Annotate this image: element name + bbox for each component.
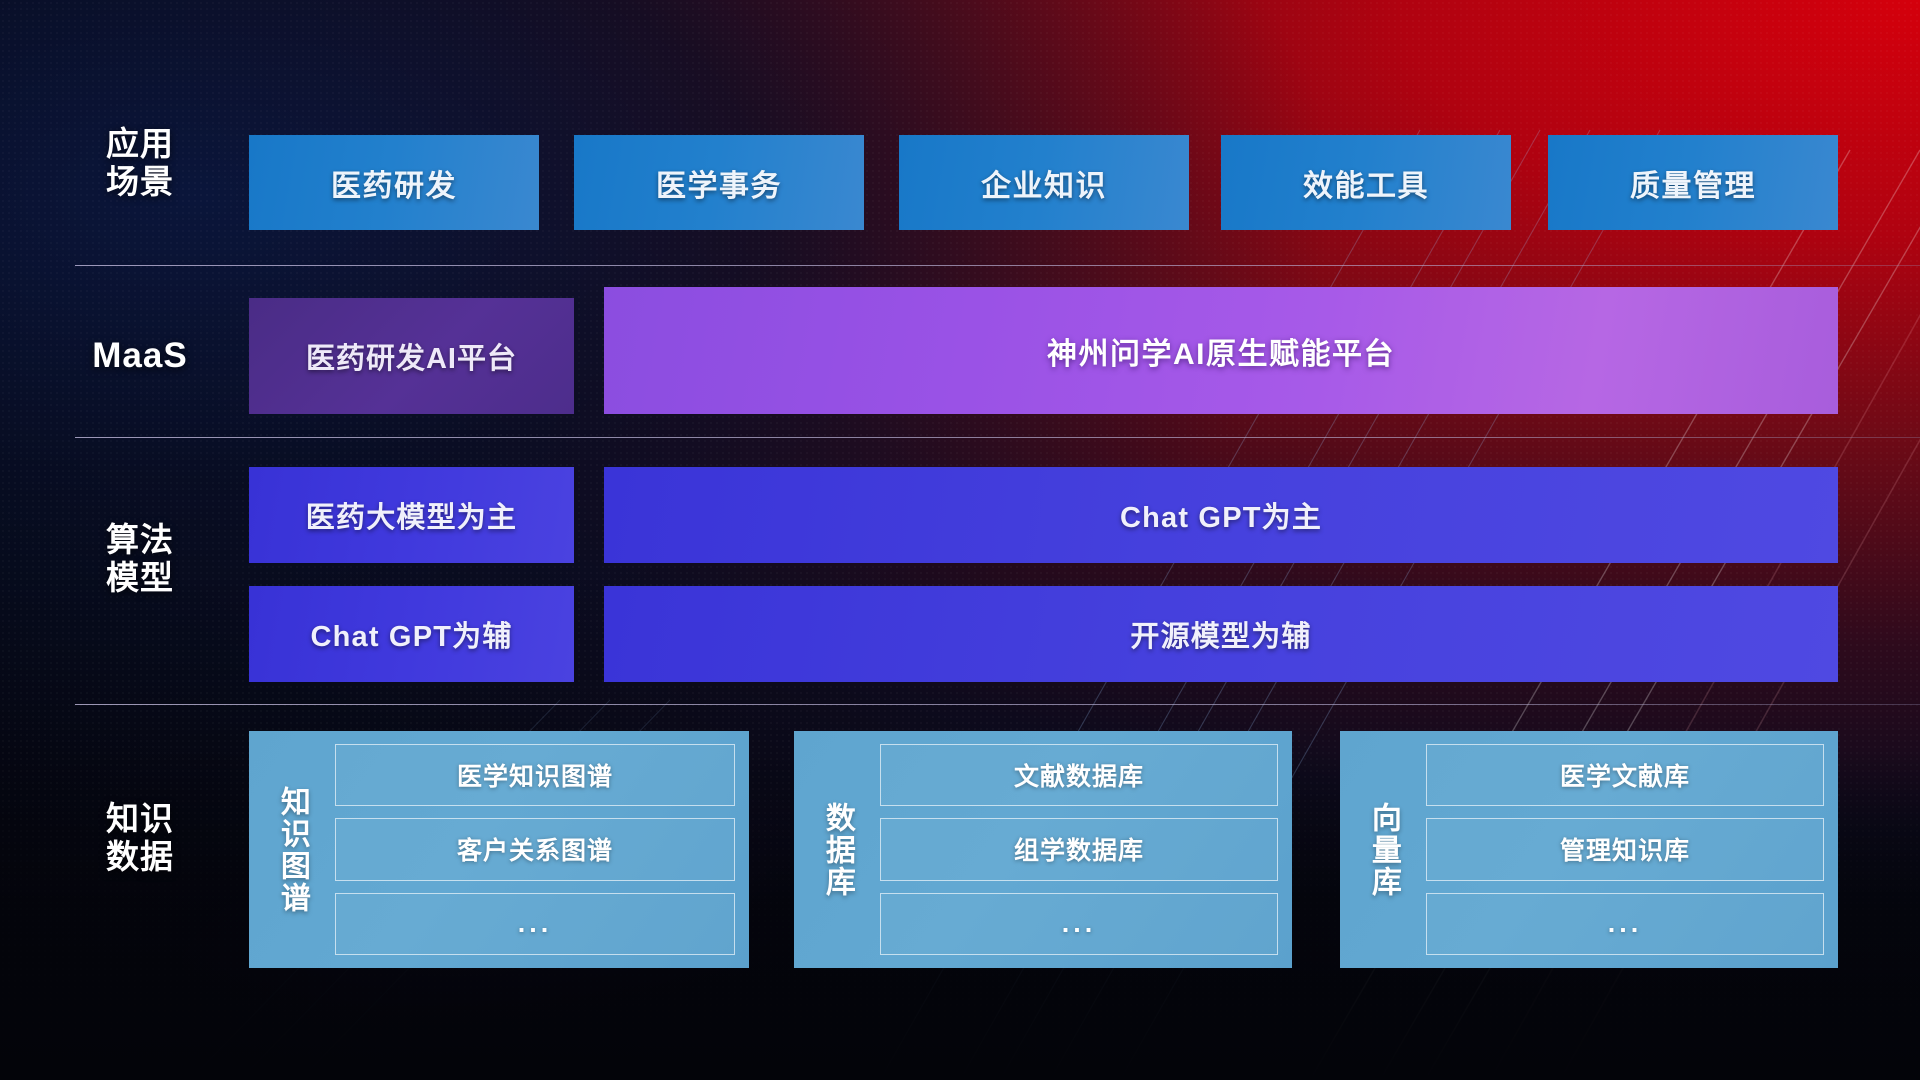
- knowledge-item-vector-more[interactable]: ...: [1426, 893, 1824, 955]
- knowledge-item-graph-more[interactable]: ...: [335, 893, 735, 955]
- knowledge-panel-database[interactable]: 数据库 文献数据库 组学数据库 ...: [794, 731, 1292, 968]
- separator-maas-algorithm: [75, 437, 1920, 438]
- architecture-diagram: 应用 场景 医药研发 医学事务 企业知识 效能工具 质量管理 MaaS 医药研发…: [0, 0, 1920, 1080]
- layer-label-application: 应用 场景: [75, 125, 205, 202]
- maas-box-medicine-ai-platform[interactable]: 医药研发AI平台: [249, 298, 574, 414]
- app-box-enterprise-knowledge[interactable]: 企业知识: [899, 135, 1189, 230]
- app-box-efficiency-tools[interactable]: 效能工具: [1221, 135, 1511, 230]
- knowledge-item-customer-graph[interactable]: 客户关系图谱: [335, 818, 735, 880]
- knowledge-panel-vector-label: 向量库: [1340, 802, 1426, 898]
- knowledge-panel-database-label: 数据库: [794, 802, 880, 898]
- knowledge-panel-graph[interactable]: 知识图谱 医学知识图谱 客户关系图谱 ...: [249, 731, 749, 968]
- layer-label-knowledge: 知识 数据: [75, 800, 205, 877]
- app-box-medical-affairs[interactable]: 医学事务: [574, 135, 864, 230]
- knowledge-item-literature-db[interactable]: 文献数据库: [880, 744, 1278, 806]
- knowledge-item-management-kb[interactable]: 管理知识库: [1426, 818, 1824, 880]
- app-box-medicine-rnd[interactable]: 医药研发: [249, 135, 539, 230]
- algo-box-chatgpt-secondary[interactable]: Chat GPT为辅: [249, 586, 574, 682]
- layer-label-maas: MaaS: [75, 336, 205, 377]
- knowledge-panel-vector-label-text: 向量库: [1367, 802, 1399, 898]
- maas-box-shenzhou-wenxue-platform[interactable]: 神州问学AI原生赋能平台: [604, 287, 1838, 414]
- knowledge-panel-vector-items: 医学文献库 管理知识库 ...: [1426, 744, 1824, 955]
- app-box-quality-management[interactable]: 质量管理: [1548, 135, 1838, 230]
- knowledge-panel-graph-label: 知识图谱: [249, 786, 335, 914]
- separator-algorithm-knowledge: [75, 704, 1920, 705]
- knowledge-item-omics-db[interactable]: 组学数据库: [880, 818, 1278, 880]
- knowledge-panel-graph-label-text: 知识图谱: [276, 786, 308, 914]
- knowledge-item-medical-graph[interactable]: 医学知识图谱: [335, 744, 735, 806]
- knowledge-panel-vector[interactable]: 向量库 医学文献库 管理知识库 ...: [1340, 731, 1838, 968]
- algo-box-opensource-secondary[interactable]: 开源模型为辅: [604, 586, 1838, 682]
- separator-application-maas: [75, 265, 1920, 266]
- knowledge-item-medical-literature[interactable]: 医学文献库: [1426, 744, 1824, 806]
- knowledge-item-database-more[interactable]: ...: [880, 893, 1278, 955]
- knowledge-panel-graph-items: 医学知识图谱 客户关系图谱 ...: [335, 744, 735, 955]
- algo-box-chatgpt-primary[interactable]: Chat GPT为主: [604, 467, 1838, 563]
- algo-box-medicine-llm-primary[interactable]: 医药大模型为主: [249, 467, 574, 563]
- layer-label-algorithm: 算法 模型: [75, 521, 205, 598]
- knowledge-panel-database-label-text: 数据库: [821, 802, 853, 898]
- knowledge-panel-database-items: 文献数据库 组学数据库 ...: [880, 744, 1278, 955]
